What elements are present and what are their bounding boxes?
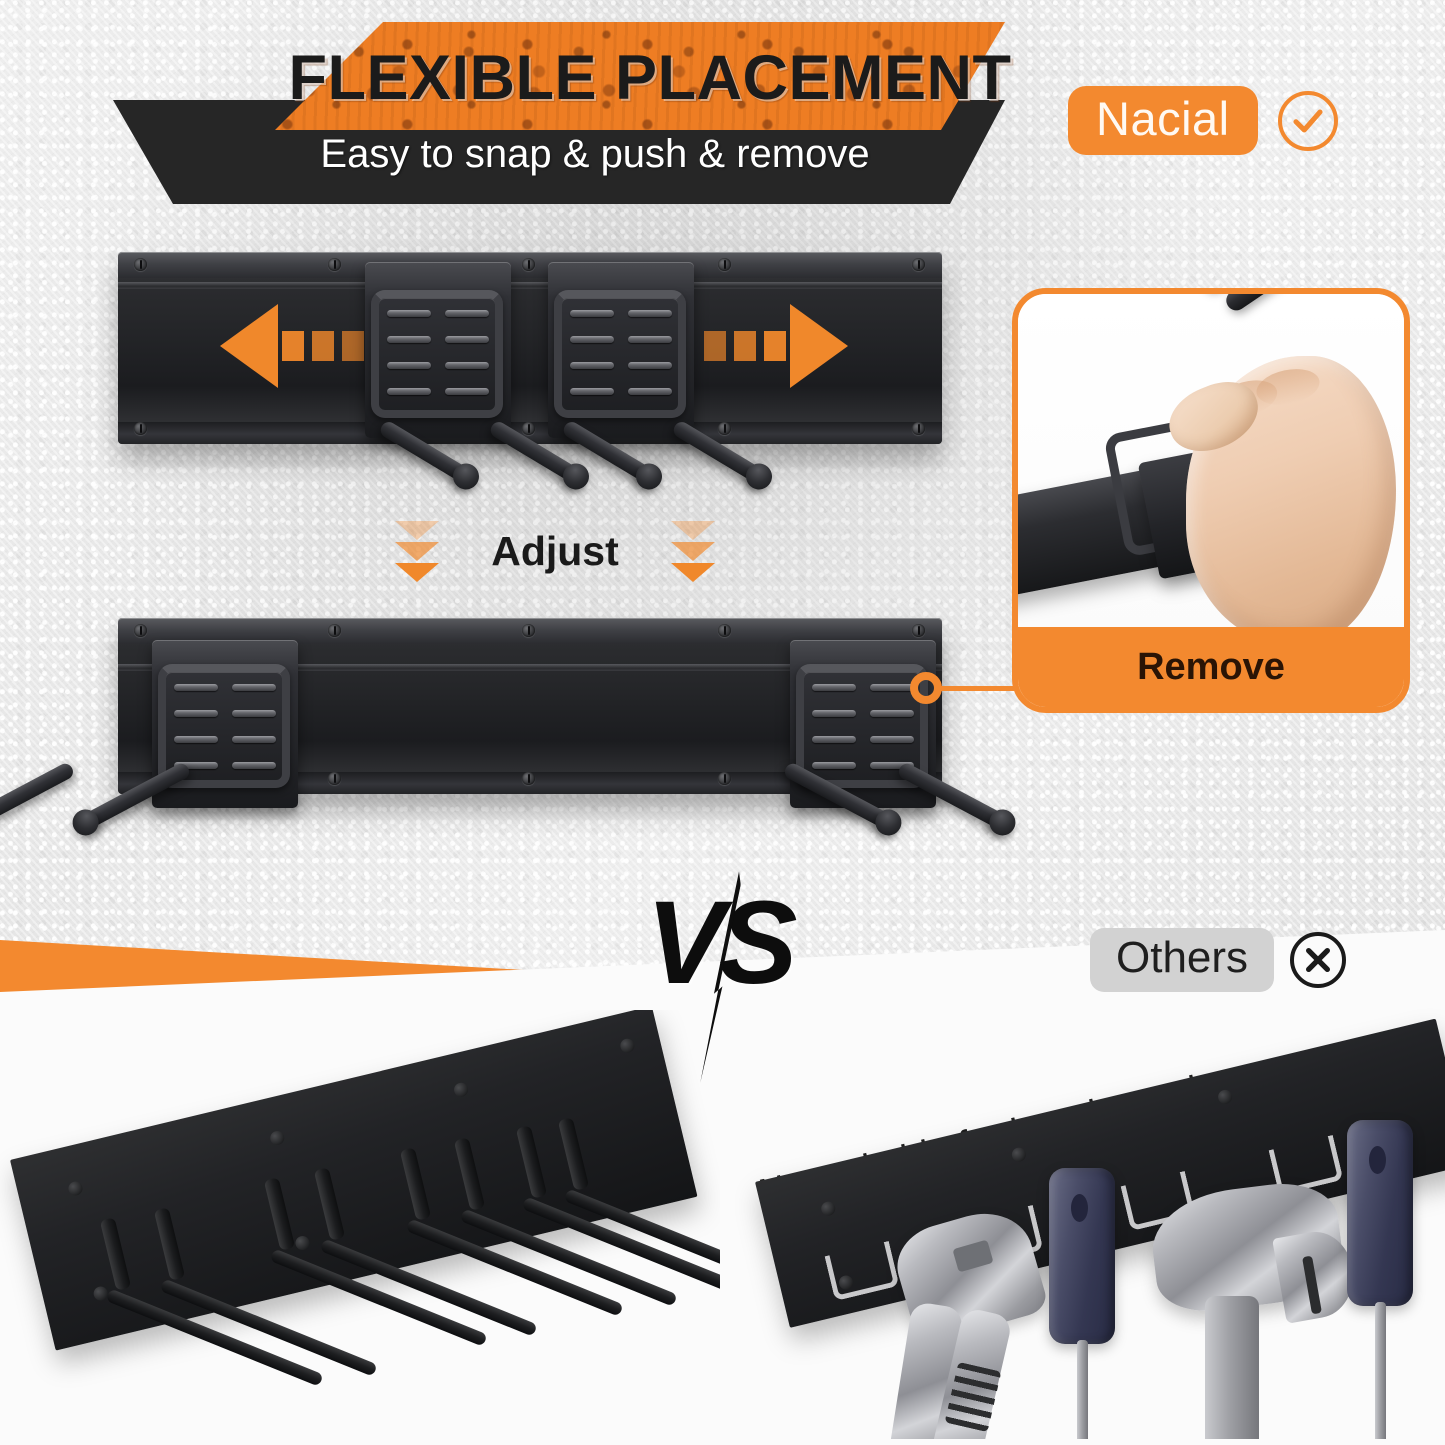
chevron-down-icon [671,563,715,582]
plate-screw [1010,1146,1027,1163]
rail-screw [522,624,535,637]
rail-screw [718,772,731,785]
screwdriver-shaft [1077,1340,1088,1445]
plate-screw [92,1285,109,1302]
hook-cluster [365,262,511,438]
adjust-label: Adjust [491,528,619,575]
screwdriver-tool [1341,1120,1421,1445]
chevron-down-icon [395,563,439,582]
adjust-indicator: Adjust [395,505,715,597]
brand-badge-label: Nacial [1068,86,1258,155]
infographic-root: FLEXIBLE PLACEMENT Easy to snap & push &… [0,0,1445,1445]
arrow-dash [342,331,364,361]
plate-screw [294,1235,311,1252]
pliers-tool [877,1218,1067,1445]
rail-screw [134,258,147,271]
brand-badge: Nacial [1068,86,1338,155]
comparison-panel-wider-tools: Not suitable for wider tools [0,1010,720,1445]
banner-subtitle: Easy to snap & push & remove [225,108,965,200]
rail-screw [522,772,535,785]
rail-screw [912,624,925,637]
others-badge-label: Others [1090,928,1274,992]
arrow-dash [312,331,334,361]
remove-photo [1018,294,1404,639]
rail-screw [134,624,147,637]
rail-screw [328,258,341,271]
remove-label: Remove [1018,627,1404,707]
screwdriver-handle-hole [1369,1146,1386,1174]
rail-screw [718,624,731,637]
chevron-down-icon [395,521,439,540]
arrow-right-group [700,304,848,388]
hammer-tool [1129,1170,1359,1445]
x-circle-icon [1290,932,1346,988]
hook-bracket [554,290,686,418]
rail-screw [912,422,925,435]
rail-screw [912,258,925,271]
screwdriver-tool [1043,1168,1123,1445]
arrow-dash [704,331,726,361]
plate-screw [1217,1088,1234,1105]
bottom-edge [0,1439,1445,1445]
chevron-down-icon-group-left [395,521,439,582]
headline-banner: FLEXIBLE PLACEMENT Easy to snap & push &… [95,22,1005,204]
rail-screw [522,258,535,271]
check-circle-icon [1278,91,1338,151]
arrow-dash [764,331,786,361]
rail-screw [718,422,731,435]
chevron-down-icon-group-right [671,521,715,582]
remove-callout-panel: Remove [1012,288,1410,713]
rail-screw [522,422,535,435]
plate-screw [67,1180,84,1197]
chevron-down-icon [671,521,715,540]
plate-screw [269,1130,286,1147]
arrow-left-group [220,304,368,388]
chevron-down-icon [395,542,439,561]
hook-bracket [371,290,503,418]
hook-tube [1222,294,1391,314]
rail-screw [134,422,147,435]
arrow-dash [734,331,756,361]
arrow-dash [282,331,304,361]
chevron-down-icon [671,542,715,561]
rail-screw [328,624,341,637]
plate-screw [820,1200,837,1217]
rail-screw [328,772,341,785]
others-badge: Others [1090,928,1346,992]
callout-dot-icon [910,672,942,704]
screwdriver-shaft [1375,1302,1386,1445]
hook-cluster [548,262,694,438]
rail-screw [718,258,731,271]
rail-groove [118,282,942,289]
arrow-left-icon [220,304,278,388]
plate-screw [619,1037,636,1054]
plate-screw [453,1081,470,1098]
comparison-panel-heavier-tools: Not suitable for heavier tools [725,1000,1445,1445]
hammer-handle [1205,1296,1259,1445]
screwdriver-handle-hole [1071,1194,1088,1222]
arrow-right-icon [790,304,848,388]
